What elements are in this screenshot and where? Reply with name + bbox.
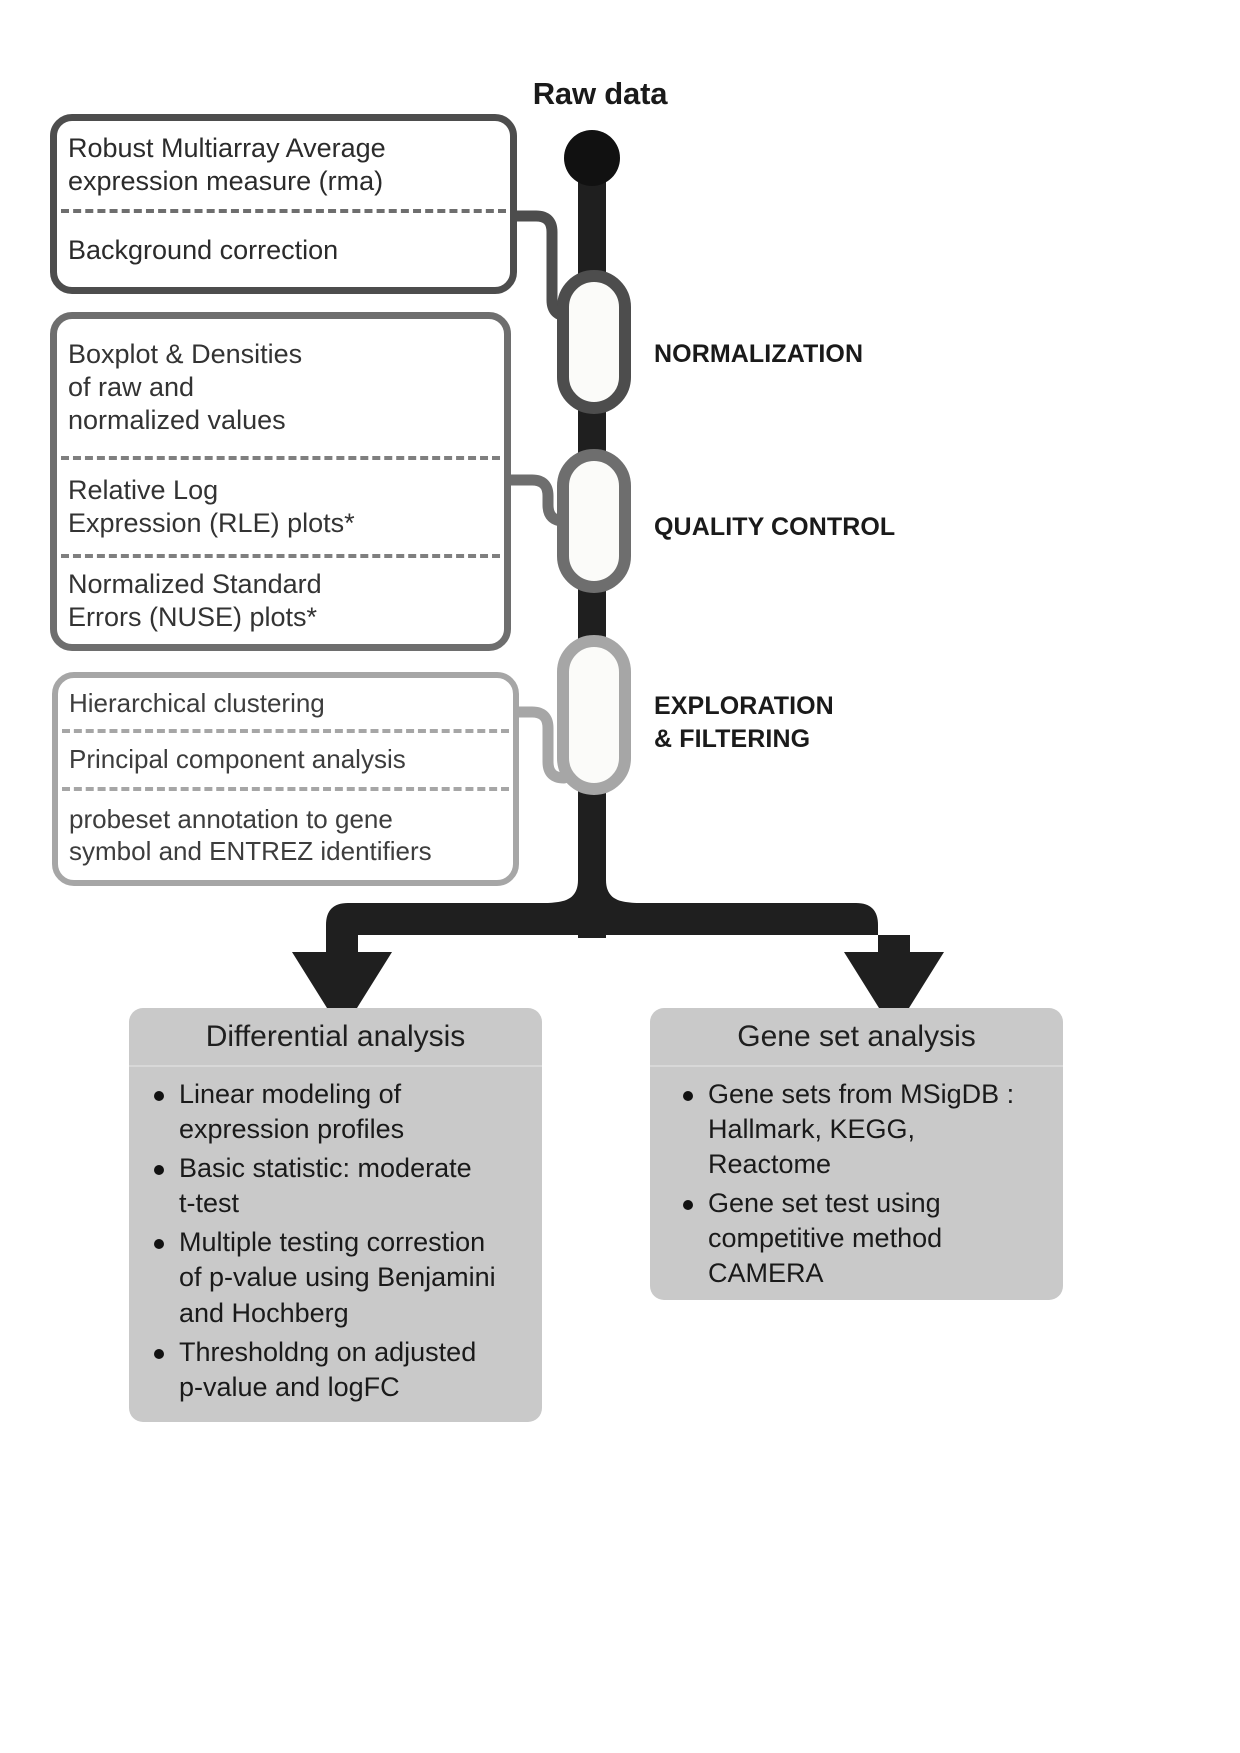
detail-row: Principal component analysis: [58, 733, 513, 788]
raw-data-node: [564, 130, 620, 186]
detail-box-quality-control: Boxplot & Densities of raw and normalize…: [50, 312, 511, 651]
flowchart-canvas: Raw data NORMALIZATION QUALITY CONTROL E…: [0, 0, 1240, 1753]
stage-label-exploration-filtering: EXPLORATION & FILTERING: [654, 690, 834, 756]
stage-label-normalization: NORMALIZATION: [654, 338, 863, 371]
detail-row: Background correction: [57, 213, 510, 287]
result-box-gene-set-analysis: Gene set analysis Gene sets from MSigDB …: [650, 1008, 1063, 1300]
list-item: Multiple testing correstion of p-value u…: [151, 1225, 528, 1330]
connector-quality-control: [508, 480, 564, 521]
result-box-title: Differential analysis: [129, 1008, 542, 1067]
stage-label-quality-control: QUALITY CONTROL: [654, 511, 895, 544]
detail-box-exploration: Hierarchical clustering Principal compon…: [52, 672, 519, 886]
detail-row: Boxplot & Densities of raw and normalize…: [57, 319, 504, 456]
detail-row: Normalized Standard Errors (NUSE) plots*: [57, 558, 504, 644]
capsule-normalization: [563, 276, 625, 408]
detail-row: Relative Log Expression (RLE) plots*: [57, 460, 504, 554]
list-item: Linear modeling of expression profiles: [151, 1077, 528, 1147]
detail-row: Hierarchical clustering: [58, 678, 513, 729]
list-item: Gene sets from MSigDB : Hallmark, KEGG, …: [680, 1077, 1049, 1182]
list-item: Gene set test using competitive method C…: [680, 1186, 1049, 1291]
page-title: Raw data: [470, 76, 730, 112]
result-bullet-list: Gene sets from MSigDB : Hallmark, KEGG, …: [650, 1067, 1063, 1300]
capsule-quality-control: [563, 455, 625, 587]
list-item: Basic statistic: moderate t-test: [151, 1151, 528, 1221]
capsule-exploration: [563, 641, 625, 789]
list-item: Thresholdng on adjusted p-value and logF…: [151, 1335, 528, 1405]
result-box-title: Gene set analysis: [650, 1008, 1063, 1067]
result-box-differential-analysis: Differential analysis Linear modeling of…: [129, 1008, 542, 1422]
result-bullet-list: Linear modeling of expression profiles B…: [129, 1067, 542, 1422]
detail-box-normalization: Robust Multiarray Average expression mea…: [50, 114, 517, 294]
connector-exploration: [516, 712, 564, 778]
detail-row: Robust Multiarray Average expression mea…: [57, 121, 510, 209]
detail-row: probeset annotation to gene symbol and E…: [58, 791, 513, 880]
fork-trunk: [578, 880, 606, 938]
